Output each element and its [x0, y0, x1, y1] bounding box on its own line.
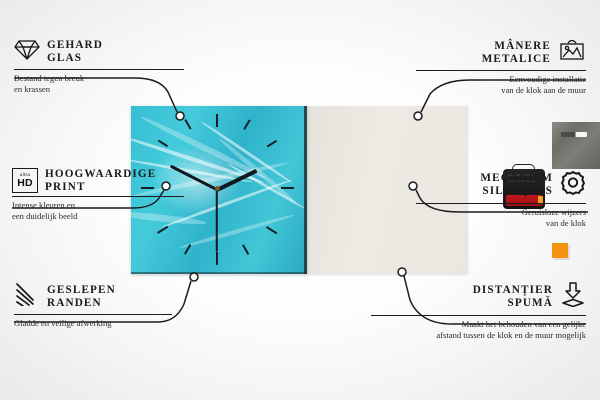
feature-title: MÂNERE METALICE	[482, 40, 551, 65]
title-line: PRINT	[45, 181, 156, 194]
hour-tick	[184, 119, 191, 129]
second-hand	[216, 190, 218, 252]
divider	[416, 70, 586, 71]
feature-geslepen-randen: GESLEPEN RANDEN Gladde en veilige afwerk…	[14, 282, 172, 329]
title-line: MECANISM	[480, 172, 553, 185]
feature-subtitle: Gladde en veilige afwerking	[14, 318, 172, 329]
hour-tick	[157, 226, 168, 234]
foam-spacer-icon	[560, 282, 586, 312]
hour-tick	[216, 114, 218, 127]
feature-hoogwaardige-print: ultra HD HOOGWAARDIGE PRINT Intense kleu…	[12, 168, 184, 223]
hour-tick	[243, 119, 250, 129]
subtitle-line: Gladde en veilige afwerking	[14, 318, 172, 329]
hour-tick	[266, 226, 277, 234]
beveled-edges-icon	[14, 282, 40, 311]
title-line: MÂNERE	[482, 40, 551, 53]
clock-center-pin	[215, 186, 220, 191]
feature-subtitle: Bestand tegen breuk en krassen	[14, 73, 184, 96]
divider	[14, 314, 172, 315]
subtitle-line: van de klok aan de muur	[416, 85, 586, 96]
feature-gehard-glas: GEHARD GLAS Bestand tegen breuk en krass…	[14, 38, 184, 96]
wall-hanger-icon	[558, 38, 586, 67]
divider	[14, 69, 184, 70]
feature-title: GEHARD GLAS	[47, 39, 103, 64]
title-line: SPUMĂ	[473, 297, 553, 310]
divider	[12, 196, 184, 197]
feature-title: GESLEPEN RANDEN	[47, 284, 116, 309]
subtitle-line: Geruisloze wijzers	[416, 207, 586, 218]
clock-right-edge	[304, 106, 307, 274]
title-line: GESLEPEN	[47, 284, 116, 297]
subtitle-line: afstand tussen de klok en de muur mogeli…	[371, 330, 586, 341]
ultra-hd-icon: ultra HD	[12, 168, 38, 193]
feature-subtitle: Eenvoudige installatie van de klok aan d…	[416, 74, 586, 97]
subtitle-line: Intense kleuren en	[12, 200, 184, 211]
hour-tick	[267, 140, 277, 147]
feature-title: DISTANȚIER SPUMĂ	[473, 284, 553, 309]
subtitle-line: Eenvoudige installatie	[416, 74, 586, 85]
feature-title: MECANISM SILENȚIOS	[480, 172, 553, 197]
feature-subtitle: Intense kleuren en een duidelijk beeld	[12, 200, 184, 223]
hd-label: HD	[17, 178, 33, 189]
subtitle-line: van de klok	[416, 218, 586, 229]
title-line: SILENȚIOS	[480, 185, 553, 198]
hour-tick	[242, 244, 249, 254]
metal-hanger-plate	[552, 122, 600, 169]
hour-tick	[281, 187, 294, 189]
infographic-canvas: GEHARD GLAS Bestand tegen breuk en krass…	[0, 0, 600, 400]
divider	[416, 203, 586, 204]
feature-distantier-spuma: DISTANȚIER SPUMĂ Maakt het behouden van …	[371, 282, 586, 342]
title-line: GEHARD	[47, 39, 103, 52]
feature-manere-metalice: MÂNERE METALICE Eenvoudige installatie v…	[416, 38, 586, 97]
feature-subtitle: Maakt het behouden van een gelijke afsta…	[371, 319, 586, 342]
title-line: METALICE	[482, 53, 551, 66]
feature-title: HOOGWAARDIGE PRINT	[45, 168, 156, 193]
hanger-slot	[561, 132, 587, 137]
subtitle-line: een duidelijk beeld	[12, 211, 184, 222]
diamond-icon	[14, 38, 40, 66]
foam-spacer	[552, 243, 568, 258]
subtitle-line: en krassen	[14, 84, 184, 95]
subtitle-line: Maakt het behouden van een gelijke	[371, 319, 586, 330]
title-line: DISTANȚIER	[473, 284, 553, 297]
subtitle-line: Bestand tegen breuk	[14, 73, 184, 84]
title-line: GLAS	[47, 52, 103, 65]
title-line: RANDEN	[47, 297, 116, 310]
feature-subtitle: Geruisloze wijzers van de klok	[416, 207, 586, 230]
feature-mecanism-silentios: MECANISM SILENȚIOS Geruisloze wijzers va…	[416, 170, 586, 230]
divider	[371, 315, 586, 316]
hour-tick	[216, 252, 218, 265]
title-line: HOOGWAARDIGE	[45, 168, 156, 181]
gear-icon	[560, 170, 586, 200]
clock-bottom-edge	[131, 272, 307, 274]
